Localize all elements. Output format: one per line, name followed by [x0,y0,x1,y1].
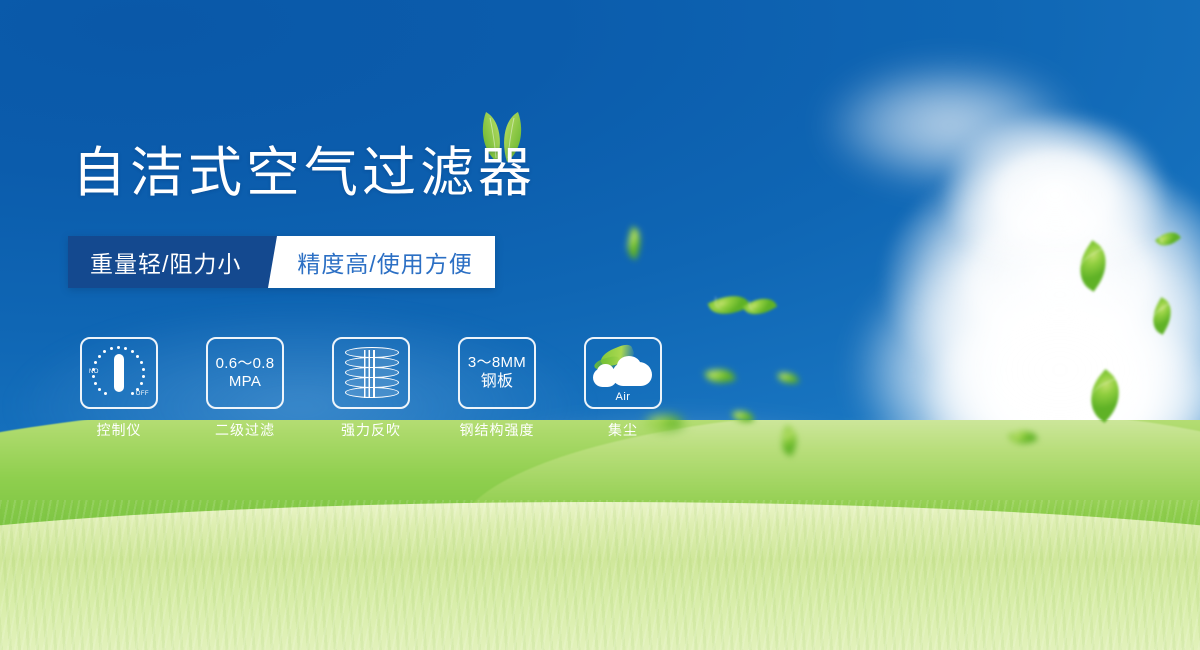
air-cloud-icon: Air [592,346,654,400]
feature-label: 强力反吹 [341,420,401,440]
feature-box-line: 3～8MM [468,354,526,372]
feature-item[interactable]: NO OFF 控制仪 [80,337,158,440]
feature-label: 钢结构强度 [460,420,535,440]
feature-box-line: 0.6～0.8 [216,355,275,373]
feature-icon-box: 0.6～0.8 MPA [206,337,284,409]
feature-item[interactable]: 3～8MM 钢板 钢结构强度 [458,337,536,440]
gauge-needle [114,354,124,392]
feature-box-line: 钢板 [468,372,526,392]
gauge-label-no: NO [89,369,99,375]
feature-label: 控制仪 [97,420,142,440]
steel-plate-icon: 3～8MM 钢板 [468,354,526,392]
tagline-right: 精度高/使用方便 [291,236,494,288]
feature-label: 集尘 [608,420,638,440]
promo-banner: 自洁式空气过滤器 重量轻/阻力小 精度高/使用方便 [0,0,1200,650]
feature-label: 二级过滤 [215,420,275,440]
feature-list: NO OFF 控制仪 0.6～0.8 MPA 二级过滤 [80,337,662,440]
feature-item[interactable]: 强力反吹 [332,337,410,440]
tagline: 重量轻/阻力小 精度高/使用方便 [68,236,495,288]
feature-icon-box: NO OFF [80,337,158,409]
page-title: 自洁式空气过滤器 [72,146,536,200]
feature-box-line: MPA [216,373,275,391]
air-label: Air [592,391,654,403]
feature-item[interactable]: 0.6～0.8 MPA 二级过滤 [206,337,284,440]
feature-item[interactable]: Air 集尘 [584,337,662,440]
gauge-label-off: OFF [136,391,149,397]
feature-icon-box: 3～8MM 钢板 [458,337,536,409]
tagline-left: 重量轻/阻力小 [68,236,261,288]
gauge-icon: NO OFF [90,345,148,401]
feature-icon-box: Air [584,337,662,409]
pressure-value-icon: 0.6～0.8 MPA [216,355,275,392]
tagline-separator [261,236,291,288]
banner-content: 自洁式空气过滤器 重量轻/阻力小 精度高/使用方便 [0,0,1200,650]
coil-filter-icon [345,346,397,400]
feature-icon-box [332,337,410,409]
